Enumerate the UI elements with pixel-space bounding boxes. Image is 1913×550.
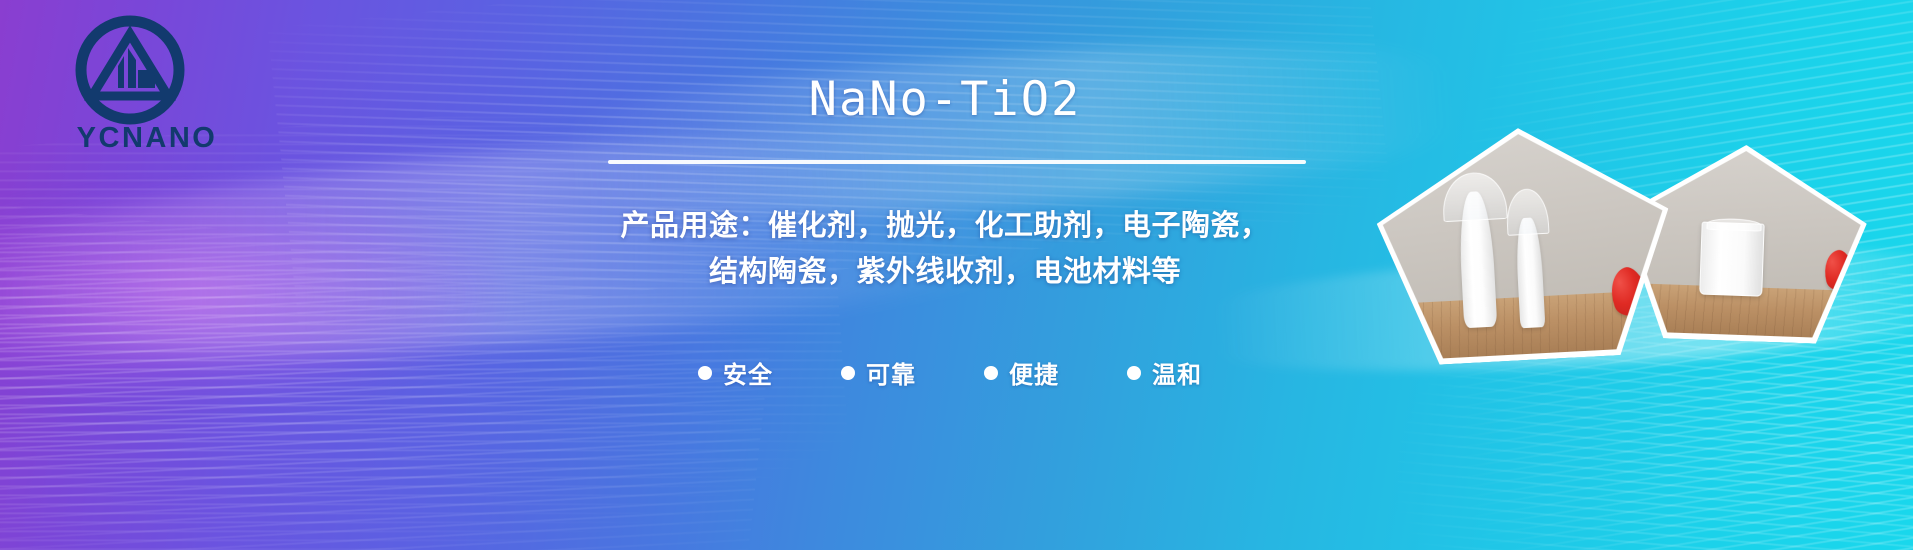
feature-item-reliable: 可靠 <box>841 355 916 390</box>
feature-list: 安全 可靠 便捷 温和 <box>520 355 1380 390</box>
feature-label: 可靠 <box>866 355 916 390</box>
page-title: NaNo-TiO2 <box>480 72 1410 127</box>
beaker-icon <box>1699 221 1765 297</box>
banner-content: NaNo-TiO2 产品用途：催化剂，抛光，化工助剂，电子陶瓷， 结构陶瓷，紫外… <box>480 0 1410 550</box>
brand-logo[interactable]: YCNANO <box>52 14 242 159</box>
beaker-scene <box>1623 147 1863 339</box>
feature-item-convenient: 便捷 <box>984 355 1059 390</box>
title-divider <box>608 160 1306 164</box>
feature-item-mild: 温和 <box>1127 355 1202 390</box>
ycnano-triangle-circle-logo-icon <box>74 14 186 126</box>
magenta-glow-icon <box>0 190 500 400</box>
vases-scene <box>1378 127 1669 361</box>
tall-vase-icon <box>1457 191 1498 329</box>
feature-label: 便捷 <box>1009 355 1059 390</box>
product-uses-line-1: 产品用途：催化剂，抛光，化工助剂，电子陶瓷， <box>485 202 1405 248</box>
small-vase-icon <box>1514 217 1545 328</box>
product-uses-text: 产品用途：催化剂，抛光，化工助剂，电子陶瓷， 结构陶瓷，紫外线收剂，电池材料等 <box>485 202 1405 294</box>
dot-bullet-icon <box>841 366 855 380</box>
brand-wordmark: YCNANO <box>52 122 242 155</box>
dot-bullet-icon <box>1127 366 1141 380</box>
dot-bullet-icon <box>698 366 712 380</box>
feature-label: 安全 <box>723 355 773 390</box>
feature-item-safe: 安全 <box>698 355 773 390</box>
dot-bullet-icon <box>984 366 998 380</box>
titanium-dioxide-vases-photo <box>1372 121 1676 368</box>
product-banner: YCNANO NaNo-TiO2 产品用途：催化剂，抛光，化工助剂，电子陶瓷， … <box>0 0 1913 550</box>
feature-label: 温和 <box>1152 355 1202 390</box>
product-uses-line-2: 结构陶瓷，紫外线收剂，电池材料等 <box>485 248 1405 294</box>
